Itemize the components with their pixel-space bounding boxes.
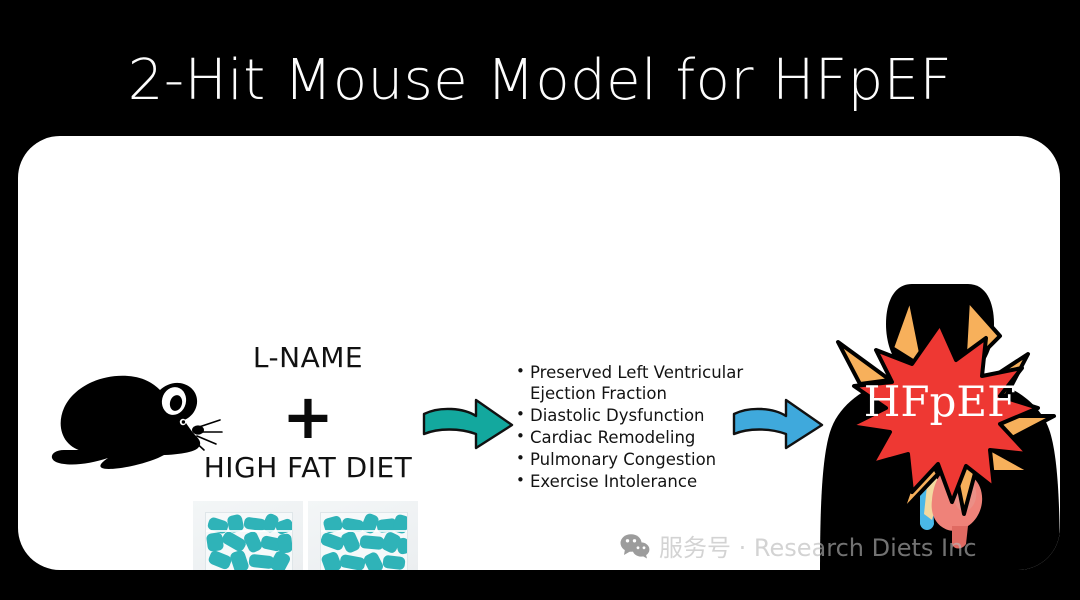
content-card: L-NAME + HIGH FAT DIET — [18, 136, 1060, 570]
list-item: Preserved Left Ventricular Ejection Frac… — [516, 362, 756, 404]
teal-arrow-icon — [420, 388, 518, 454]
jar-body — [205, 512, 293, 570]
jar-rim — [321, 530, 407, 532]
hit-one-label: L-NAME — [188, 341, 428, 374]
list-item: Pulmonary Congestion — [516, 449, 756, 470]
jar-body — [320, 512, 408, 570]
hfpef-outcome-graphic: HFpEF — [816, 276, 1060, 570]
slide-root: 2-Hit Mouse Model for HFpEF L-NAME + HIG… — [0, 0, 1080, 600]
burst-label: HFpEF — [864, 377, 1016, 426]
list-item: Exercise Intolerance — [516, 471, 756, 492]
pellet-jars-group — [193, 501, 418, 570]
page-title: 2-Hit Mouse Model for HFpEF — [0, 48, 1080, 113]
list-item: Diastolic Dysfunction — [516, 405, 756, 426]
pellet-jar — [308, 501, 418, 570]
phenotype-list: Preserved Left Ventricular Ejection Frac… — [516, 362, 756, 493]
plus-symbol: + — [188, 386, 428, 448]
hit-two-label: HIGH FAT DIET — [178, 451, 438, 484]
blue-arrow-icon — [730, 388, 828, 454]
list-item: Cardiac Remodeling — [516, 427, 756, 448]
pellet-jar — [193, 501, 303, 570]
jar-rim — [206, 530, 292, 532]
